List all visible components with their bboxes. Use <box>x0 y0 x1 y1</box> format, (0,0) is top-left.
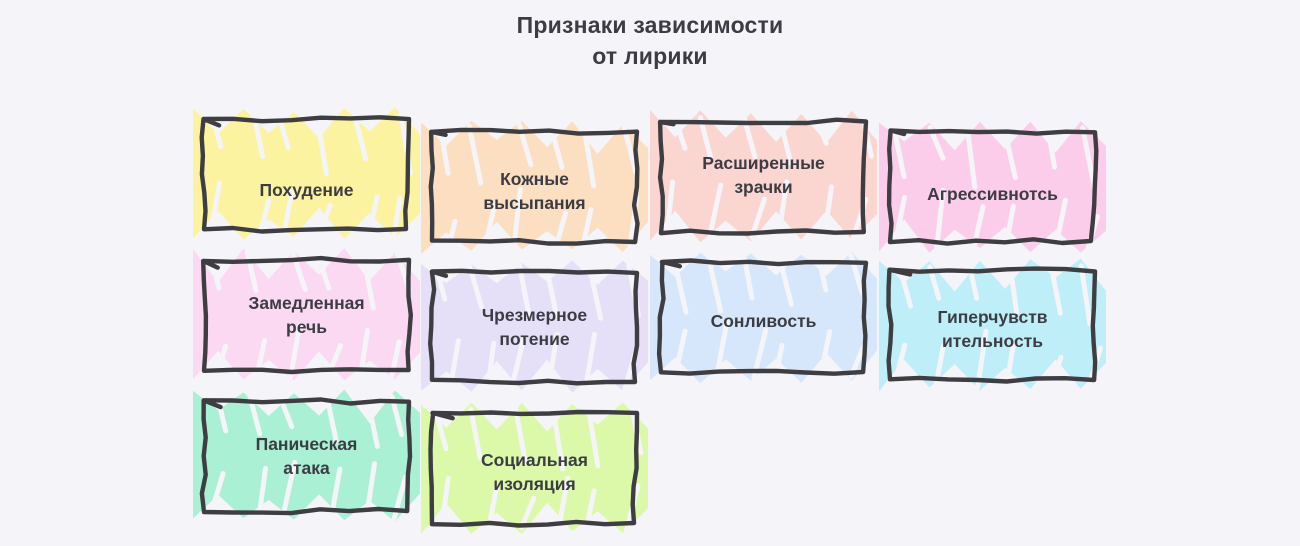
symptom-card-slowed-speech[interactable]: Замедленная речь <box>202 257 411 373</box>
card-fill <box>879 121 1106 253</box>
card-fill <box>193 108 420 240</box>
symptom-card-hypersensitivity[interactable]: Гиперчувств ительность <box>888 267 1097 383</box>
card-sketch-aggressiveness <box>876 116 1109 256</box>
card-fill <box>650 110 877 242</box>
symptom-card-drowsiness[interactable]: Сонливость <box>659 259 868 375</box>
card-sketch-weight-loss <box>190 104 423 244</box>
symptom-card-social-isolation[interactable]: Социальная изоляция <box>430 410 639 526</box>
card-fill <box>421 121 648 254</box>
card-sketch-social-isolation <box>418 398 651 538</box>
card-fill <box>193 248 420 380</box>
symptom-card-excessive-sweating[interactable]: Чрезмерное потение <box>430 269 639 385</box>
card-sketch-panic-attack <box>190 386 423 526</box>
card-sketch-drowsiness <box>647 247 880 387</box>
card-fill <box>879 259 1106 392</box>
card-fill <box>193 390 420 522</box>
page-title: Признаки зависимости от лирики <box>0 10 1300 72</box>
symptom-card-panic-attack[interactable]: Паническая атака <box>202 398 411 514</box>
symptom-card-skin-rash[interactable]: Кожные высыпания <box>430 129 639 245</box>
symptom-card-aggressiveness[interactable]: Агрессивнотсь <box>888 128 1097 244</box>
card-fill <box>650 252 877 383</box>
card-sketch-hypersensitivity <box>876 255 1109 395</box>
card-sketch-dilated-pupils <box>647 107 880 247</box>
card-sketch-slowed-speech <box>190 245 423 385</box>
symptom-card-weight-loss[interactable]: Похудение <box>202 116 411 232</box>
card-sketch-excessive-sweating <box>418 257 651 397</box>
card-sketch-skin-rash <box>418 117 651 257</box>
infographic-canvas: Признаки зависимости от лирики Похудение… <box>0 0 1300 546</box>
symptom-card-dilated-pupils[interactable]: Расширенные зрачки <box>659 119 868 235</box>
card-fill <box>421 403 648 534</box>
